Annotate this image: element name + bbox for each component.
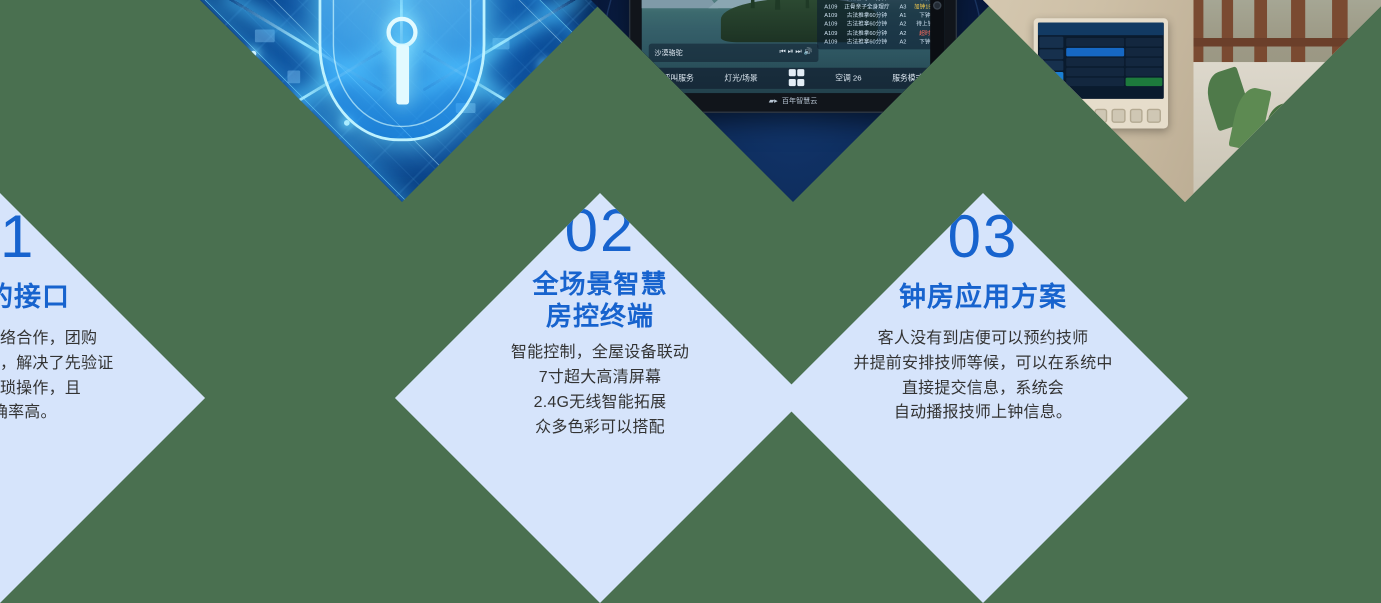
panel-1-text-diamond: 01 强大的接口 与多家团购网络合作，团购 验证和结算同步，解决了先验证 后结算… xyxy=(0,193,205,603)
panel-1-body-line: 验证和结算同步，解决了先验证 xyxy=(0,352,113,377)
bottom-item-call-service[interactable]: 呼叫服务 xyxy=(663,72,694,83)
panel-3-title: 钟房应用方案 xyxy=(899,281,1067,314)
panel-3-body-line: 自动播报技师上钟信息。 xyxy=(853,401,1112,426)
table-row: A109 古法推拿60分钟 A2 超时 xyxy=(820,29,936,38)
cell-guest: A109 xyxy=(820,3,842,12)
panel-3-text-diamond: 03 钟房应用方案 客人没有到店便可以预约技师 并提前安排技师等候，可以在系统中… xyxy=(778,193,1188,603)
cell-tech: A1 xyxy=(892,11,914,20)
panel-2-body-line: 众多色彩可以搭配 xyxy=(511,416,689,441)
panel-1-number: 01 xyxy=(0,207,35,267)
cell-item: 古法推拿60分钟 xyxy=(842,38,892,47)
cell-tech: A2 xyxy=(892,38,914,47)
panel-3-body-line: 直接提交信息，系统会 xyxy=(853,377,1112,402)
cell-tech: A3 xyxy=(892,3,914,12)
brand-name: 百年智慧云 xyxy=(782,96,817,106)
panel-2-number: 02 xyxy=(565,201,636,261)
cell-guest: A109 xyxy=(820,11,842,20)
panel-1-body-line: 与多家团购网络合作，团购 xyxy=(0,327,113,352)
panel-2-body-line: 2.4G无线智能拓展 xyxy=(511,391,689,416)
media-controls[interactable]: ⏮ ⏯ ⏭ 🔊 xyxy=(779,48,812,56)
cell-tech: A2 xyxy=(892,20,914,29)
key-stem-icon xyxy=(396,45,409,104)
wall-control-panel[interactable] xyxy=(1033,18,1168,129)
table-row: A109 古法推拿60分钟 A2 待上钟 xyxy=(820,20,936,29)
cell-item: 古法推拿60分钟 xyxy=(842,20,892,29)
tablet-footer-note: Hey Smart Monitor xyxy=(910,103,945,108)
cell-item: 正骨亲子全身理疗 xyxy=(842,3,892,12)
cell-guest: A109 xyxy=(820,38,842,47)
wall-panel-screen[interactable] xyxy=(1037,22,1164,100)
cell-item: 古法推拿60分钟 xyxy=(842,29,892,38)
panel-2-title-line: 房控终端 xyxy=(532,301,667,333)
brand-mark-icon: ▰▸ xyxy=(769,97,778,105)
wall-panel-buttons[interactable] xyxy=(1041,105,1160,127)
panel-3-number: 03 xyxy=(948,207,1019,267)
media-title: 沙漠骆驼 xyxy=(654,47,682,57)
bottom-item-service-mode[interactable]: 服务模式 xyxy=(892,72,923,83)
keyhole-icon xyxy=(386,17,417,48)
wall-panel-right-list[interactable] xyxy=(1125,37,1163,94)
tablet-side-strip xyxy=(930,0,944,73)
table-row: A109 古法推拿60分钟 A1 下钟 xyxy=(820,11,936,20)
panel-2-text-diamond: 02 全场景智慧 房控终端 智能控制，全屋设备联动 7寸超大高清屏幕 2.4G无… xyxy=(395,193,805,603)
apps-grid-icon[interactable] xyxy=(788,70,804,86)
service-status-table: 客人 项目 技师 状态 A109 古法推拿60分钟 A2 下钟 xyxy=(817,0,939,49)
tablet-bottom-bar[interactable]: 呼叫服务 灯光/场景 空调 26 服务模式 xyxy=(647,67,938,88)
camera-icon xyxy=(932,1,940,9)
panel-2-body-line: 7寸超大高清屏幕 xyxy=(511,366,689,391)
tablet-footer-brand: ▰▸ 百年智慧云 xyxy=(630,93,955,110)
bottom-item-aircon[interactable]: 空调 26 xyxy=(835,72,861,83)
table-row: A109 正骨亲子全身理疗 A3 加钟15分 xyxy=(820,3,936,12)
wall-panel-left-menu[interactable] xyxy=(1037,36,1065,100)
holographic-shield-scene xyxy=(197,0,607,202)
panel-1-body-line: 后结算的繁琐操作，且 xyxy=(0,377,113,402)
room-photo-scene xyxy=(980,0,1381,202)
smart-terminal-scene: CSUBO 22:35 SP xyxy=(588,0,998,202)
diamond-grid-banner: 01 强大的接口 与多家团购网络合作，团购 验证和结算同步，解决了先验证 后结算… xyxy=(0,0,1381,603)
panel-3-body-line: 客人没有到店便可以预约技师 xyxy=(853,327,1112,352)
room-control-tablet[interactable]: CSUBO 22:35 SP xyxy=(629,0,957,112)
cell-tech: A2 xyxy=(892,29,914,38)
cell-guest: A109 xyxy=(820,20,842,29)
cell-guest: A109 xyxy=(820,29,842,38)
panel-3-body-line: 并提前安排技师等候，可以在系统中 xyxy=(853,352,1112,377)
wall-panel-header xyxy=(1037,22,1164,36)
panel-2-image-diamond: CSUBO 22:35 SP xyxy=(588,0,998,202)
panel-1-title: 强大的接口 xyxy=(0,281,70,314)
panel-1-body-line: 操作正确率高。 xyxy=(0,401,113,426)
tablet-screen[interactable]: 22:35 SPA6房 19°C 11/24 客人 项目 技师 xyxy=(642,0,945,93)
bottom-item-lighting[interactable]: 灯光/场景 xyxy=(724,72,757,83)
table-row: A109 古法推拿60分钟 A2 下钟 xyxy=(820,38,936,47)
media-player-bar[interactable]: 沙漠骆驼 ⏮ ⏯ ⏭ 🔊 xyxy=(649,43,818,61)
cell-item: 古法推拿60分钟 xyxy=(842,11,892,20)
panel-3-image-diamond xyxy=(980,0,1381,202)
wall-panel-mid-list[interactable] xyxy=(1067,37,1124,94)
panel-2-title-line: 全场景智慧 xyxy=(532,269,667,301)
panel-1-image-diamond xyxy=(197,0,607,202)
panel-2-body-line: 智能控制，全屋设备联动 xyxy=(511,341,689,366)
